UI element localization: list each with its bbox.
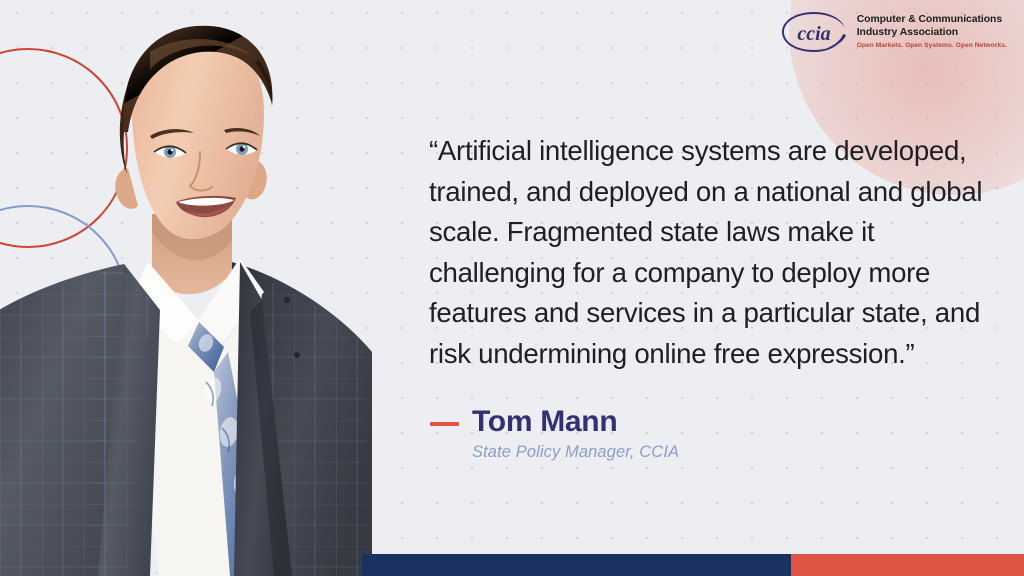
logo-tagline: Open Markets. Open Systems. Open Network…: [857, 41, 1007, 51]
bottom-bar-navy-segment: [362, 554, 791, 576]
logo-line-2: Industry Association: [857, 27, 1007, 39]
bottom-bar-red-segment: [791, 554, 1024, 576]
attribution-title: State Policy Manager, CCIA: [472, 442, 679, 462]
svg-text:ccia: ccia: [797, 23, 830, 45]
quote-card: ccia Computer & Communications Industry …: [0, 0, 1024, 576]
logo-line-1: Computer & Communications: [857, 14, 1007, 26]
attribution-name: Tom Mann: [472, 405, 617, 439]
ccia-logo: ccia Computer & Communications Industry …: [781, 10, 1007, 54]
attribution-block: Tom Mann State Policy Manager, CCIA: [430, 405, 679, 462]
ccia-logo-mark-icon: ccia: [781, 10, 847, 54]
quote-block: “Artificial intelligence systems are dev…: [429, 131, 1004, 374]
bottom-accent-bar: [362, 554, 1024, 576]
quote-text: “Artificial intelligence systems are dev…: [429, 131, 1004, 374]
speaker-portrait: [0, 0, 375, 576]
attribution-name-row: Tom Mann: [430, 405, 679, 439]
ccia-logo-wordmark: Computer & Communications Industry Assoc…: [857, 13, 1007, 51]
attribution-dash-icon: [430, 422, 459, 426]
